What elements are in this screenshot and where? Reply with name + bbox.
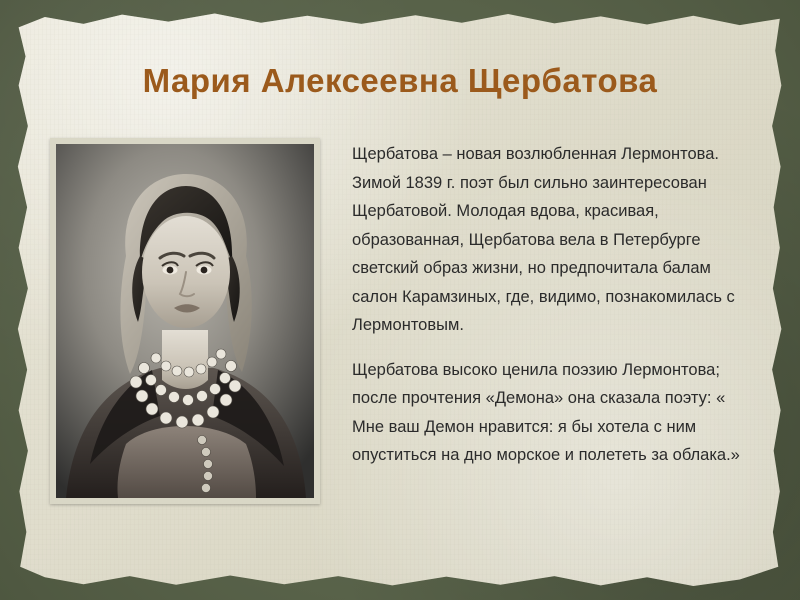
slide: Мария Алексеевна Щербатова xyxy=(0,0,800,600)
portrait-frame xyxy=(50,138,320,504)
page-title: Мария Алексеевна Щербатова xyxy=(0,62,800,100)
paragraph-2: Щербатова высоко ценила поэзию Лермонтов… xyxy=(352,356,750,470)
portrait-illustration xyxy=(56,144,314,498)
paragraph-1: Щербатова – новая возлюбленная Лермонтов… xyxy=(352,140,750,340)
portrait-image xyxy=(56,144,314,498)
body-text: Щербатова – новая возлюбленная Лермонтов… xyxy=(352,140,750,470)
